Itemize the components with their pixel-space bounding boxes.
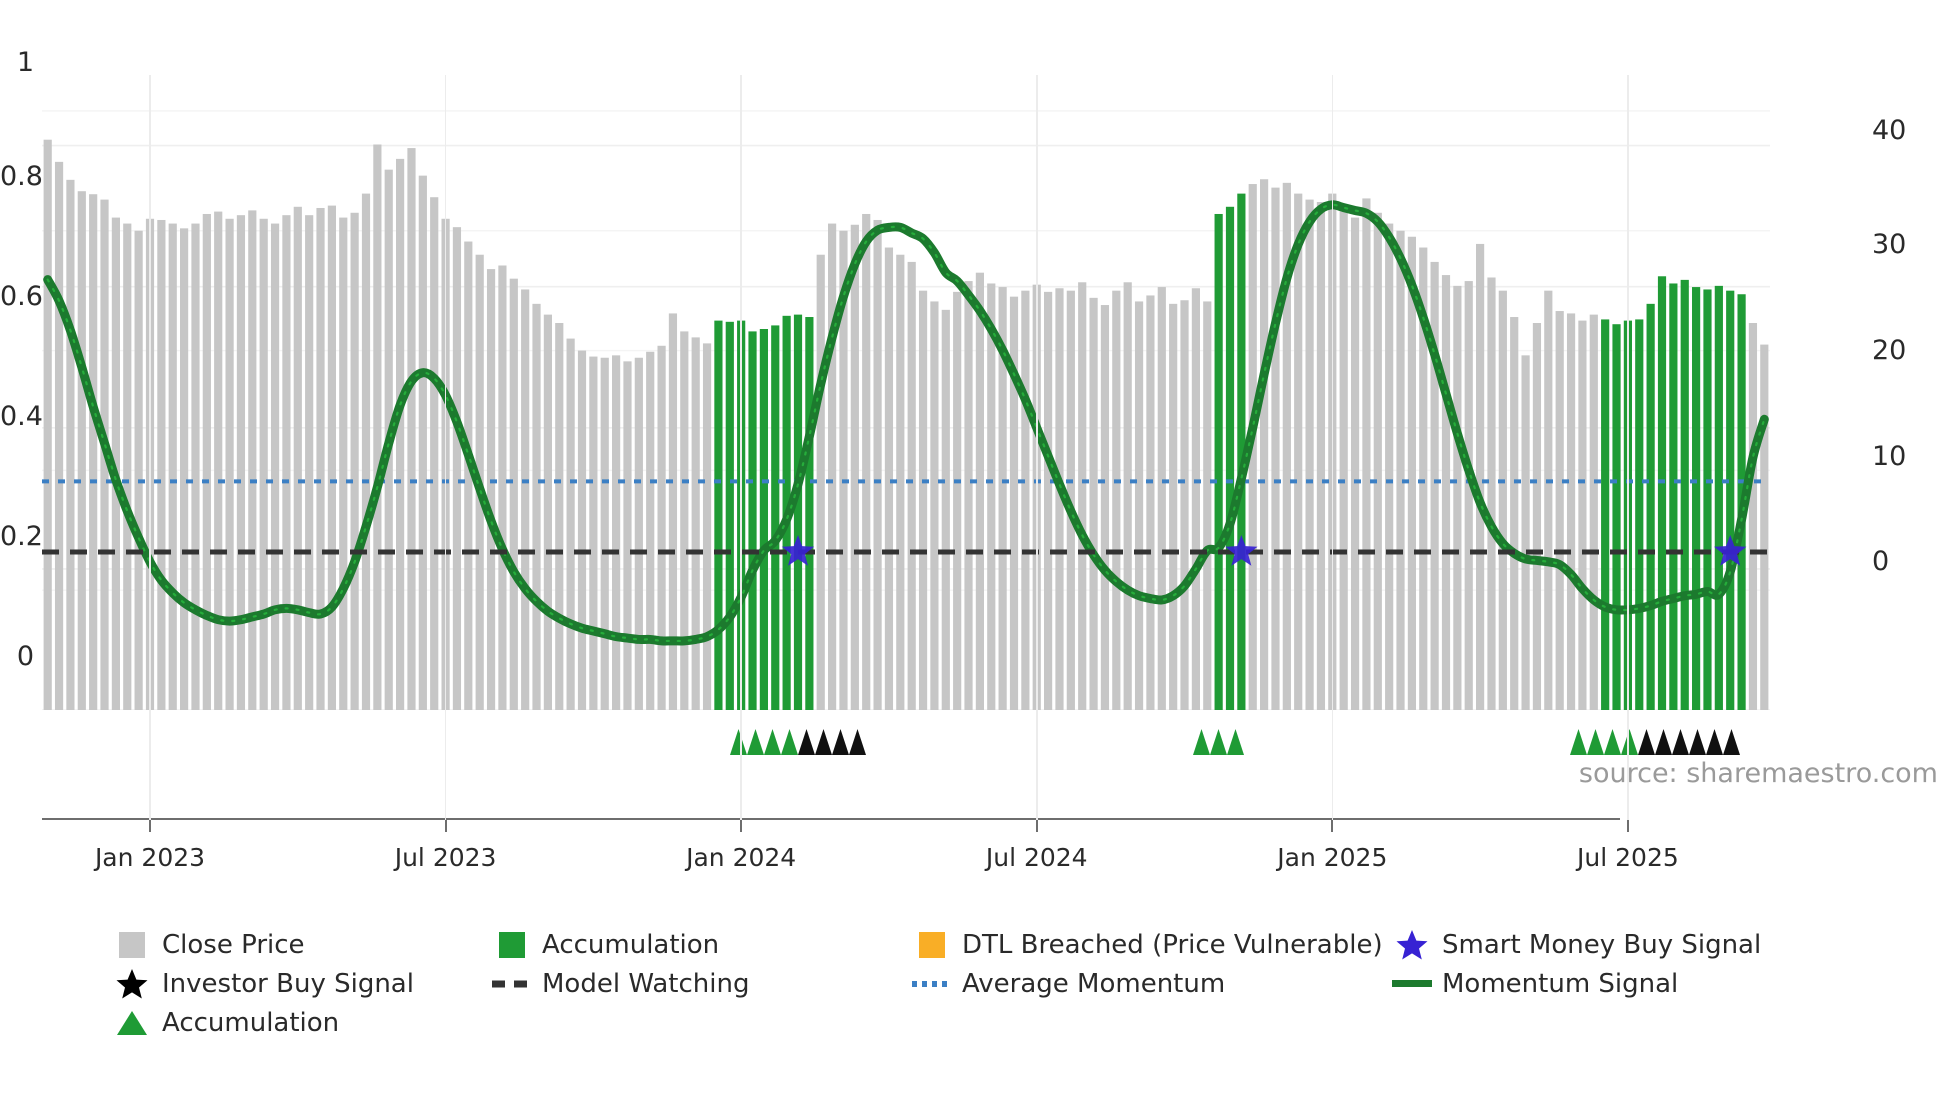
legend-item-accumulation-bar[interactable]: Accumulation — [490, 925, 910, 964]
dashed-line-icon — [490, 978, 534, 990]
legend-item-investor-buy[interactable]: Investor Buy Signal — [110, 964, 490, 1003]
plot-area — [42, 75, 1770, 710]
x-gridline — [1332, 75, 1334, 820]
legend-label: Smart Money Buy Signal — [1442, 930, 1761, 960]
x-axis-tick-label: Jan 2025 — [1232, 845, 1432, 870]
x-gridline — [1036, 75, 1038, 820]
y-axis-left-tick: 1 — [0, 49, 34, 76]
legend-item-dtl-breached[interactable]: DTL Breached (Price Vulnerable) — [910, 925, 1390, 964]
plot-canvas — [42, 75, 1770, 710]
legend-label: Investor Buy Signal — [162, 969, 414, 999]
y-axis-left-tick: 0 — [0, 643, 34, 670]
square-icon — [490, 932, 534, 958]
star-icon — [110, 967, 154, 1001]
square-icon — [110, 932, 154, 958]
x-axis-tick-mark — [740, 820, 742, 832]
legend-row: Investor Buy Signal Model Watching Avera… — [110, 964, 1890, 1003]
x-axis-tick-mark — [445, 820, 447, 832]
legend-row: Close Price Accumulation DTL Breached (P… — [110, 925, 1890, 964]
x-axis-tick-label: Jul 2025 — [1528, 845, 1728, 870]
legend-label: Accumulation — [542, 930, 719, 960]
star-icon — [1390, 928, 1434, 962]
x-gridline — [149, 75, 151, 820]
legend-item-average-momentum[interactable]: Average Momentum — [910, 964, 1390, 1003]
legend-item-accumulation-marker[interactable]: Accumulation — [110, 1003, 490, 1042]
x-axis-tick-label: Jan 2023 — [50, 845, 250, 870]
y-axis-right-tick: 40 — [1872, 117, 1932, 144]
y-axis-right-tick: 0 — [1872, 548, 1932, 575]
legend-label: Close Price — [162, 930, 305, 960]
x-axis-tick-mark — [1331, 820, 1333, 832]
legend-item-momentum-signal[interactable]: Momentum Signal — [1390, 964, 1678, 1003]
momentum-accumulation-chart: 1 0.8 0.6 0.4 0.2 0 40 30 20 10 0 source… — [0, 0, 1960, 1102]
y-axis-left-tick: 0.4 — [0, 403, 34, 430]
x-axis-tick-mark — [1627, 820, 1629, 832]
y-axis-right-tick: 20 — [1872, 337, 1932, 364]
legend-label: Momentum Signal — [1442, 969, 1678, 999]
x-gridline — [740, 75, 742, 820]
source-credit: source: sharemaestro.com — [1579, 760, 1938, 787]
legend-label: Model Watching — [542, 969, 749, 999]
legend-label: Accumulation — [162, 1008, 339, 1038]
x-axis-tick-label: Jul 2023 — [346, 845, 546, 870]
legend-row: Accumulation — [110, 1003, 1890, 1042]
x-axis-tick-mark — [1036, 820, 1038, 832]
x-gridline — [1627, 75, 1629, 820]
legend-item-close-price[interactable]: Close Price — [110, 925, 490, 964]
square-icon — [910, 932, 954, 958]
y-axis-right-tick: 30 — [1872, 231, 1932, 258]
x-gridline — [445, 75, 447, 820]
x-axis-tick-mark — [149, 820, 151, 832]
legend-label: Average Momentum — [962, 969, 1225, 999]
x-axis-line — [42, 818, 1620, 820]
y-axis-left-tick: 0.8 — [0, 163, 34, 190]
y-axis-left-tick: 0.2 — [0, 523, 34, 550]
solid-line-icon — [1390, 980, 1434, 987]
x-axis-tick-label: Jul 2024 — [937, 845, 1137, 870]
legend-item-model-watching[interactable]: Model Watching — [490, 964, 910, 1003]
legend-label: DTL Breached (Price Vulnerable) — [962, 930, 1383, 960]
y-axis-left-tick: 0.6 — [0, 283, 34, 310]
triangle-up-icon — [110, 1008, 154, 1038]
y-axis-right-tick: 10 — [1872, 443, 1932, 470]
x-axis-tick-label: Jan 2024 — [641, 845, 841, 870]
legend: Close Price Accumulation DTL Breached (P… — [110, 925, 1890, 1042]
legend-item-smart-money[interactable]: Smart Money Buy Signal — [1390, 925, 1761, 964]
dotted-line-icon — [910, 978, 954, 990]
